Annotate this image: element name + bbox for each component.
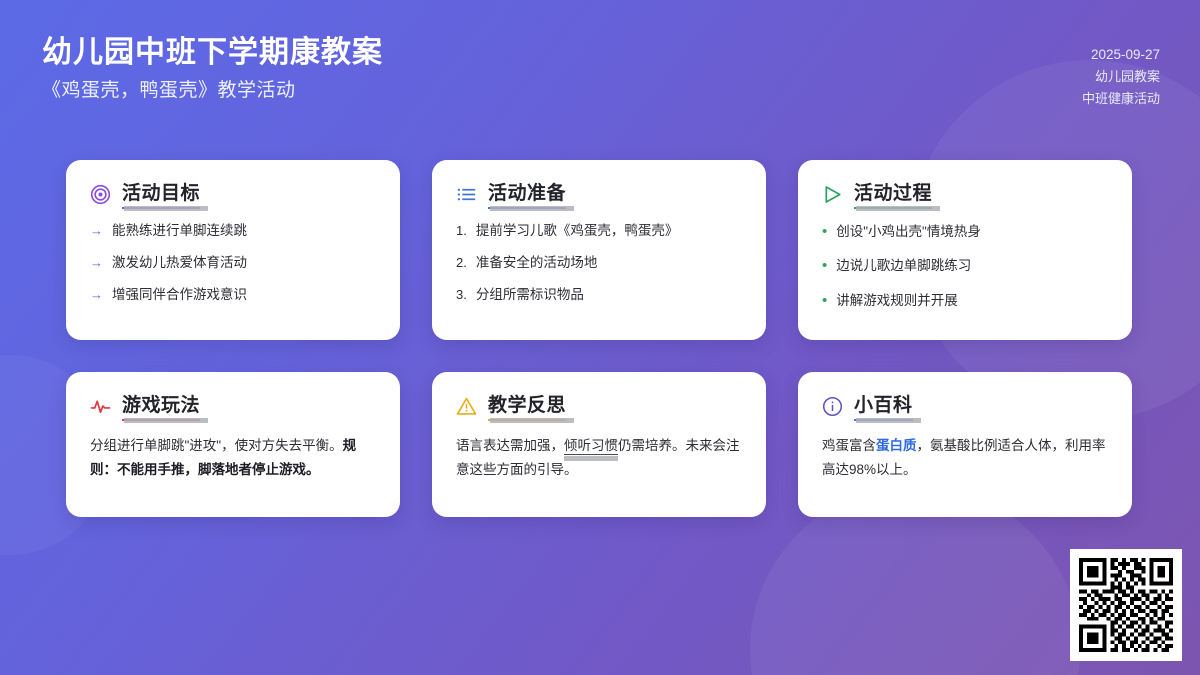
list-item-text: 提前学习儿歌《鸡蛋壳，鸭蛋壳》 xyxy=(476,222,679,240)
card-title-wrap: 活动过程 xyxy=(854,184,932,205)
list-item: 3. 分组所需标识物品 xyxy=(456,286,742,304)
qr-code-image xyxy=(1079,558,1173,652)
reflection-marked-term: 倾听习惯 xyxy=(564,438,618,455)
encyclopedia-text: 鸡蛋富含蛋白质，氨基酸比例适合人体，利用率高达98%以上。 xyxy=(822,434,1108,481)
target-icon xyxy=(90,184,111,205)
reflection-text: 语言表达需加强，倾听习惯仍需培养。未来会注意这些方面的引导。 xyxy=(456,434,742,481)
list-item: → 能熟练进行单脚连续跳 xyxy=(90,222,376,240)
slide-header: 幼儿园中班下学期康教案 《鸡蛋壳，鸭蛋壳》教学活动 2025-09-27 幼儿园… xyxy=(0,0,1200,109)
list-item-text: 创设"小鸡出壳"情境热身 xyxy=(836,223,981,241)
card-activity-preparation[interactable]: 活动准备 1. 提前学习儿歌《鸡蛋壳，鸭蛋壳》 2. 准备安全的活动场地 3. … xyxy=(432,160,766,340)
header-meta: 2025-09-27 幼儿园教案 中班健康活动 xyxy=(1082,34,1160,109)
goals-list: → 能熟练进行单脚连续跳 → 激发幼儿热爱体育活动 → 增强同伴合作游戏意识 xyxy=(90,222,376,305)
slide-root: 幼儿园中班下学期康教案 《鸡蛋壳，鸭蛋壳》教学活动 2025-09-27 幼儿园… xyxy=(0,0,1200,675)
card-header: 活动准备 xyxy=(456,184,742,205)
card-game-rules[interactable]: 游戏玩法 分组进行单脚跳"进攻"，使对方失去平衡。规则：不能用手推，脚落地者停止… xyxy=(66,372,400,517)
number-marker: 1. xyxy=(456,222,467,240)
dot-marker-icon: • xyxy=(822,291,827,311)
qr-code[interactable] xyxy=(1070,549,1182,661)
list-item-text: 边说儿歌边单脚跳练习 xyxy=(836,257,971,275)
title-highlight-bar xyxy=(856,418,921,423)
list-item-text: 增强同伴合作游戏意识 xyxy=(112,286,247,304)
pulse-icon xyxy=(90,396,111,417)
card-header: 游戏玩法 xyxy=(90,396,376,417)
dot-marker-icon: • xyxy=(822,222,827,242)
list-item: 1. 提前学习儿歌《鸡蛋壳，鸭蛋壳》 xyxy=(456,222,742,240)
list-item: 2. 准备安全的活动场地 xyxy=(456,254,742,272)
list-icon xyxy=(456,184,477,205)
card-title-wrap: 游戏玩法 xyxy=(122,396,200,417)
list-item: → 激发幼儿热爱体育活动 xyxy=(90,254,376,272)
list-item: • 讲解游戏规则并开展 xyxy=(822,291,1108,311)
card-title-wrap: 活动目标 xyxy=(122,184,200,205)
list-item: • 边说儿歌边单脚跳练习 xyxy=(822,256,1108,276)
game-rules-intro: 分组进行单脚跳"进攻"，使对方失去平衡。 xyxy=(90,438,343,453)
info-circle-icon xyxy=(822,396,843,417)
arrow-marker-icon: → xyxy=(90,286,103,304)
arrow-marker-icon: → xyxy=(90,254,103,272)
encyclopedia-pre: 鸡蛋富含 xyxy=(822,438,876,453)
warning-triangle-icon xyxy=(456,396,477,417)
list-item-text: 讲解游戏规则并开展 xyxy=(836,292,958,310)
title-highlight-bar xyxy=(490,418,574,423)
number-marker: 2. xyxy=(456,254,467,272)
reflection-pre: 语言表达需加强， xyxy=(456,438,564,453)
list-item-text: 分组所需标识物品 xyxy=(476,286,584,304)
process-list: • 创设"小鸡出壳"情境热身 • 边说儿歌边单脚跳练习 • 讲解游戏规则并开展 xyxy=(822,222,1108,311)
list-item: • 创设"小鸡出壳"情境热身 xyxy=(822,222,1108,242)
card-grid: 活动目标 → 能熟练进行单脚连续跳 → 激发幼儿热爱体育活动 → 增强同伴合作游… xyxy=(66,160,1134,517)
list-item: → 增强同伴合作游戏意识 xyxy=(90,286,376,304)
list-item-text: 能熟练进行单脚连续跳 xyxy=(112,222,247,240)
card-activity-goals[interactable]: 活动目标 → 能熟练进行单脚连续跳 → 激发幼儿热爱体育活动 → 增强同伴合作游… xyxy=(66,160,400,340)
page-title: 幼儿园中班下学期康教案 xyxy=(42,34,383,72)
number-marker: 3. xyxy=(456,286,467,304)
meta-subject: 中班健康活动 xyxy=(1082,88,1160,109)
card-header: 教学反思 xyxy=(456,396,742,417)
title-block: 幼儿园中班下学期康教案 《鸡蛋壳，鸭蛋壳》教学活动 xyxy=(42,34,383,103)
encyclopedia-keyword: 蛋白质 xyxy=(876,438,917,453)
card-title-wrap: 教学反思 xyxy=(488,396,566,417)
card-teaching-reflection[interactable]: 教学反思 语言表达需加强，倾听习惯仍需培养。未来会注意这些方面的引导。 xyxy=(432,372,766,517)
meta-category: 幼儿园教案 xyxy=(1082,66,1160,87)
game-rules-text: 分组进行单脚跳"进攻"，使对方失去平衡。规则：不能用手推，脚落地者停止游戏。 xyxy=(90,434,376,481)
card-title-wrap: 活动准备 xyxy=(488,184,566,205)
card-title-wrap: 小百科 xyxy=(854,396,913,417)
card-header: 活动过程 xyxy=(822,184,1108,205)
preparation-list: 1. 提前学习儿歌《鸡蛋壳，鸭蛋壳》 2. 准备安全的活动场地 3. 分组所需标… xyxy=(456,222,742,305)
list-item-text: 准备安全的活动场地 xyxy=(476,254,598,272)
title-highlight-bar xyxy=(124,206,208,211)
meta-date: 2025-09-27 xyxy=(1082,44,1160,66)
card-encyclopedia[interactable]: 小百科 鸡蛋富含蛋白质，氨基酸比例适合人体，利用率高达98%以上。 xyxy=(798,372,1132,517)
list-item-text: 激发幼儿热爱体育活动 xyxy=(112,254,247,272)
arrow-marker-icon: → xyxy=(90,222,103,240)
card-activity-process[interactable]: 活动过程 • 创设"小鸡出壳"情境热身 • 边说儿歌边单脚跳练习 • 讲解游戏规… xyxy=(798,160,1132,340)
title-highlight-bar xyxy=(124,418,208,423)
page-subtitle: 《鸡蛋壳，鸭蛋壳》教学活动 xyxy=(42,78,383,104)
title-highlight-bar xyxy=(490,206,574,211)
title-highlight-bar xyxy=(856,206,940,211)
dot-marker-icon: • xyxy=(822,256,827,276)
card-header: 小百科 xyxy=(822,396,1108,417)
play-triangle-icon xyxy=(822,184,843,205)
card-header: 活动目标 xyxy=(90,184,376,205)
